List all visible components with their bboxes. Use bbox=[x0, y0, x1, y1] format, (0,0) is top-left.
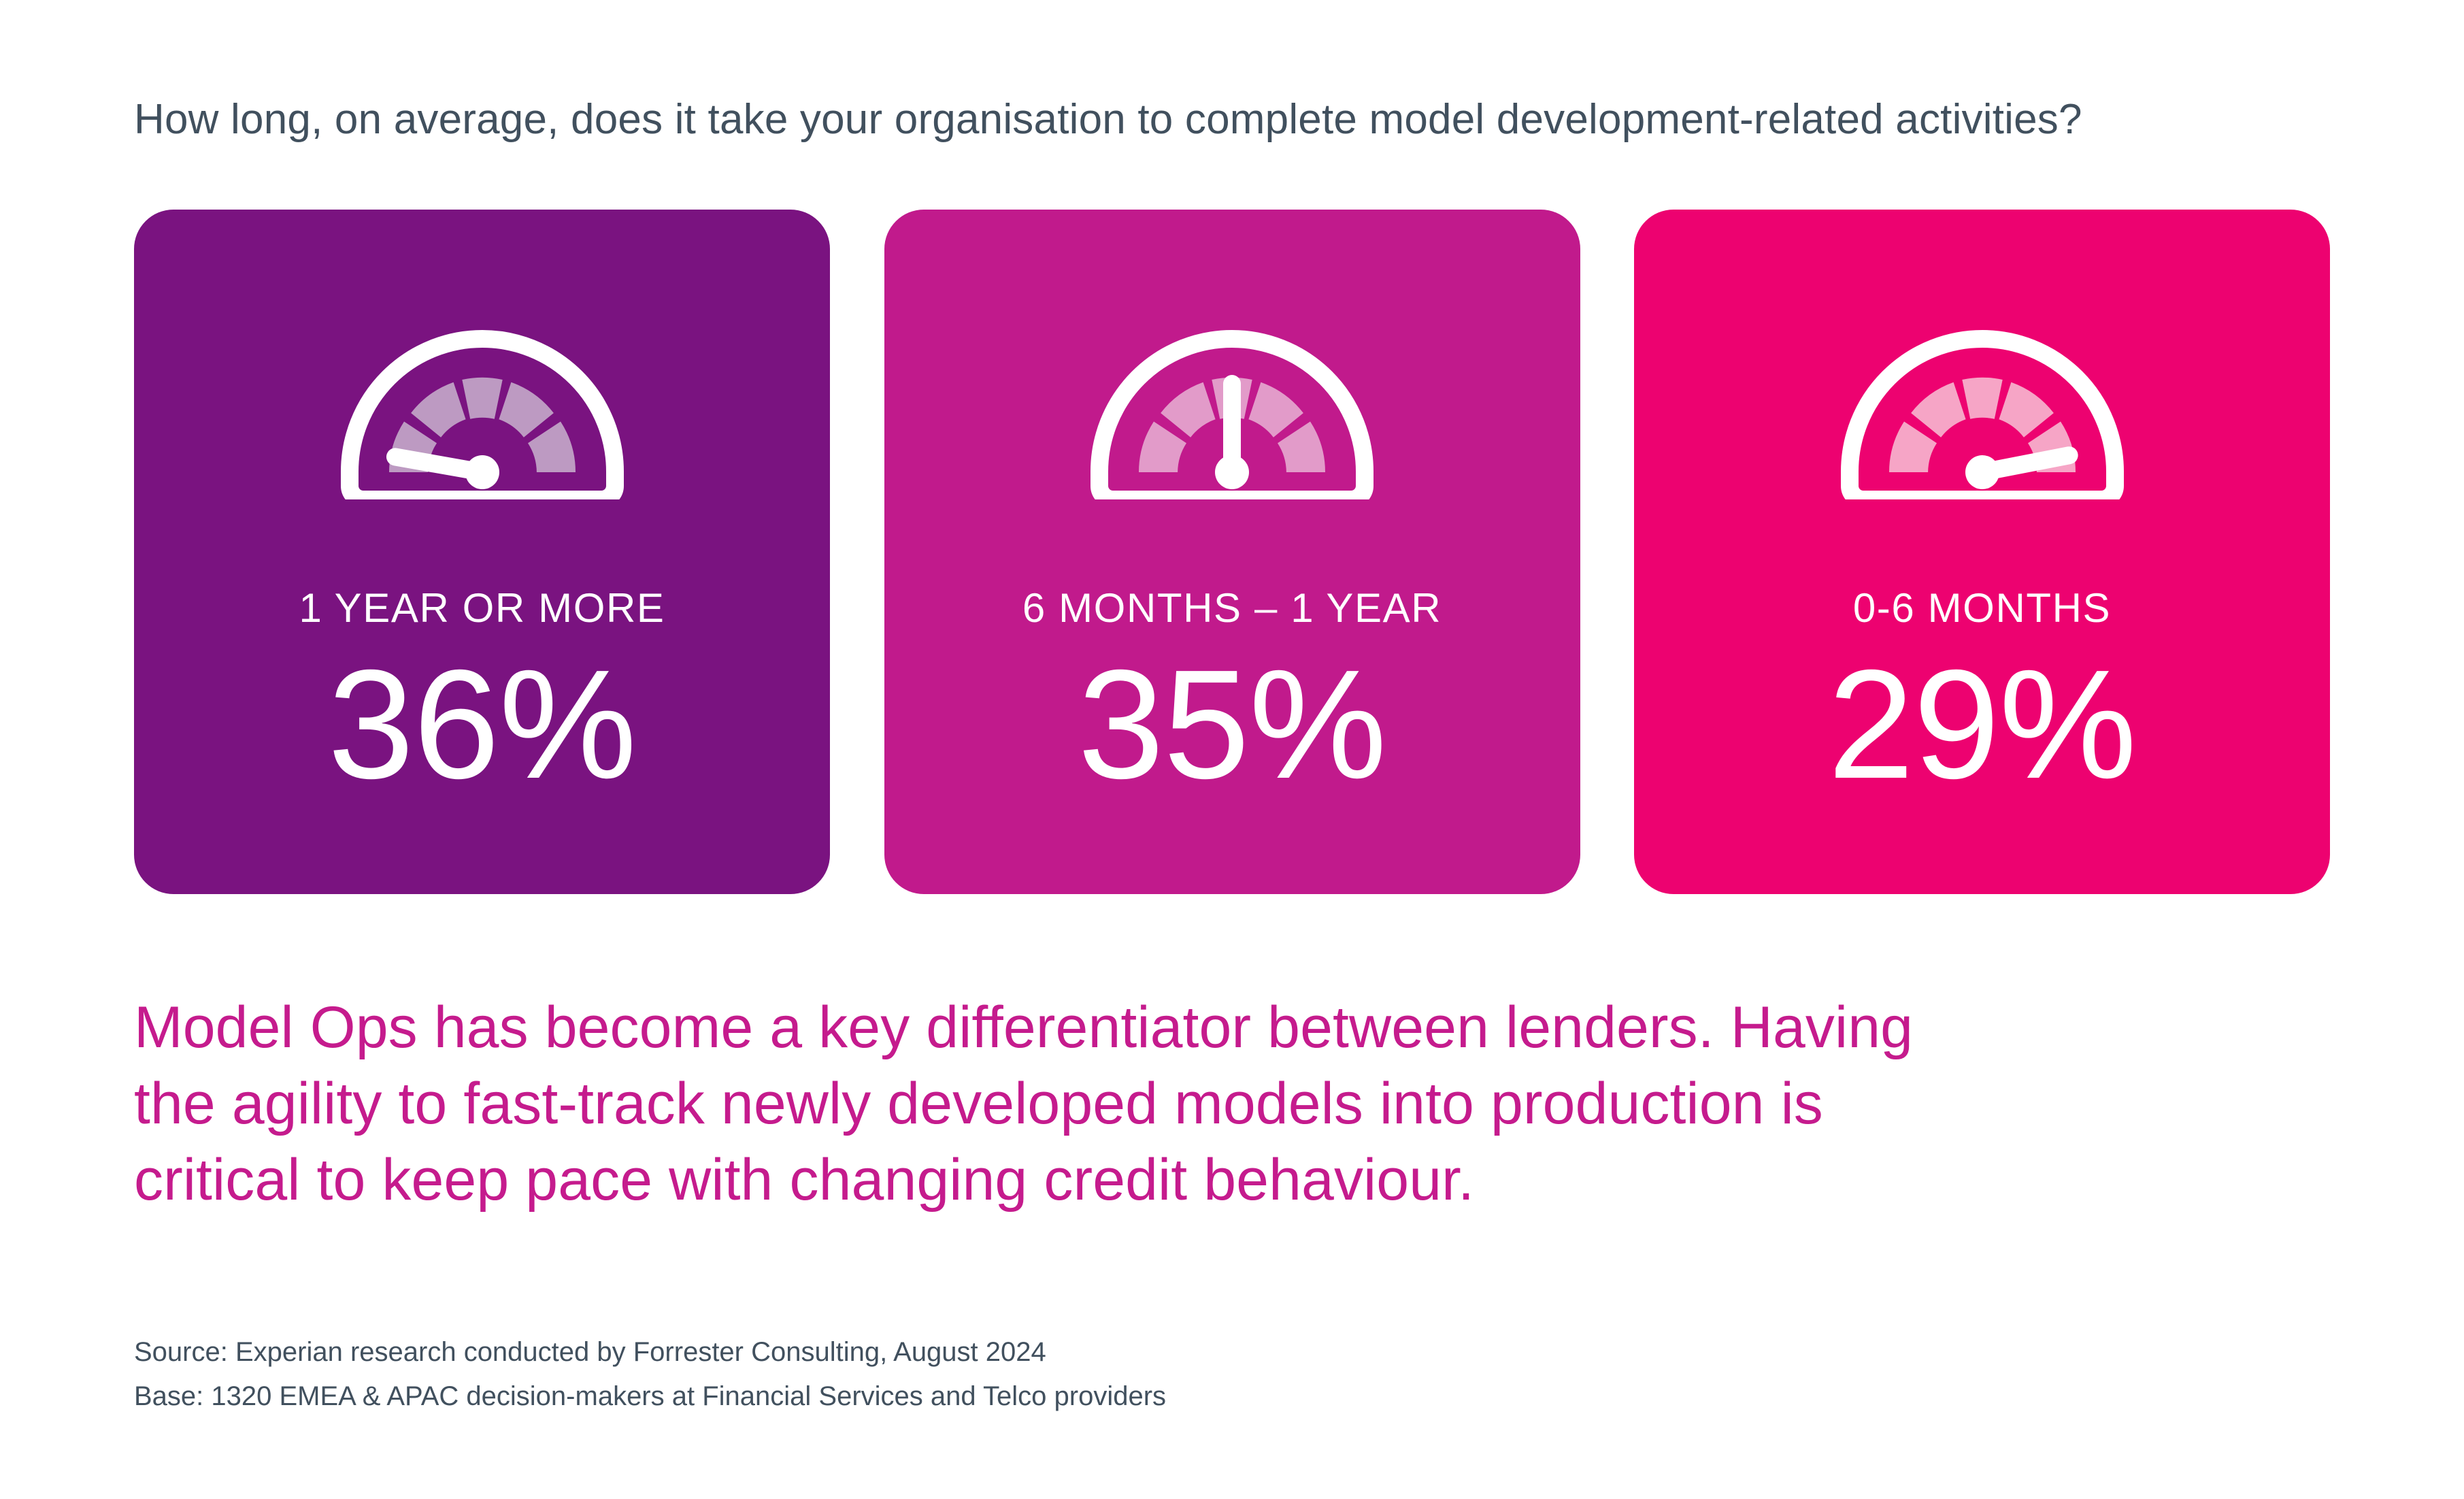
stat-card-6-months-1-year: 6 MONTHS – 1 YEAR 35% bbox=[884, 210, 1580, 894]
infographic-page: How long, on average, does it take your … bbox=[0, 0, 2464, 1499]
source-footnote: Source: Experian research conducted by F… bbox=[134, 1330, 1903, 1419]
source-line: Source: Experian research conducted by F… bbox=[134, 1330, 1903, 1374]
statement-line-1: Model Ops has become a key differentiato… bbox=[134, 990, 2372, 1066]
gauge-icon bbox=[1086, 325, 1378, 499]
key-statement: Model Ops has become a key differentiato… bbox=[134, 990, 2372, 1218]
gauge-icon bbox=[1836, 325, 2129, 499]
base-line: Base: 1320 EMEA & APAC decision-makers a… bbox=[134, 1374, 1903, 1419]
stat-card-row: 1 YEAR OR MORE 36% bbox=[134, 210, 2330, 894]
stat-card-1-year-or-more: 1 YEAR OR MORE 36% bbox=[134, 210, 830, 894]
stat-card-value: 36% bbox=[328, 644, 636, 806]
statement-line-3: critical to keep pace with changing cred… bbox=[134, 1142, 2372, 1219]
stat-card-label: 0-6 MONTHS bbox=[1853, 588, 2111, 629]
gauge-icon bbox=[336, 325, 629, 499]
stat-card-label: 1 YEAR OR MORE bbox=[299, 588, 665, 629]
stat-card-value: 35% bbox=[1078, 644, 1386, 806]
stat-card-value: 29% bbox=[1828, 644, 2136, 806]
page-title: How long, on average, does it take your … bbox=[134, 95, 2379, 144]
statement-line-2: the agility to fast-track newly develope… bbox=[134, 1066, 2372, 1142]
stat-card-0-6-months: 0-6 MONTHS 29% bbox=[1634, 210, 2330, 894]
stat-card-label: 6 MONTHS – 1 YEAR bbox=[1022, 588, 1442, 629]
